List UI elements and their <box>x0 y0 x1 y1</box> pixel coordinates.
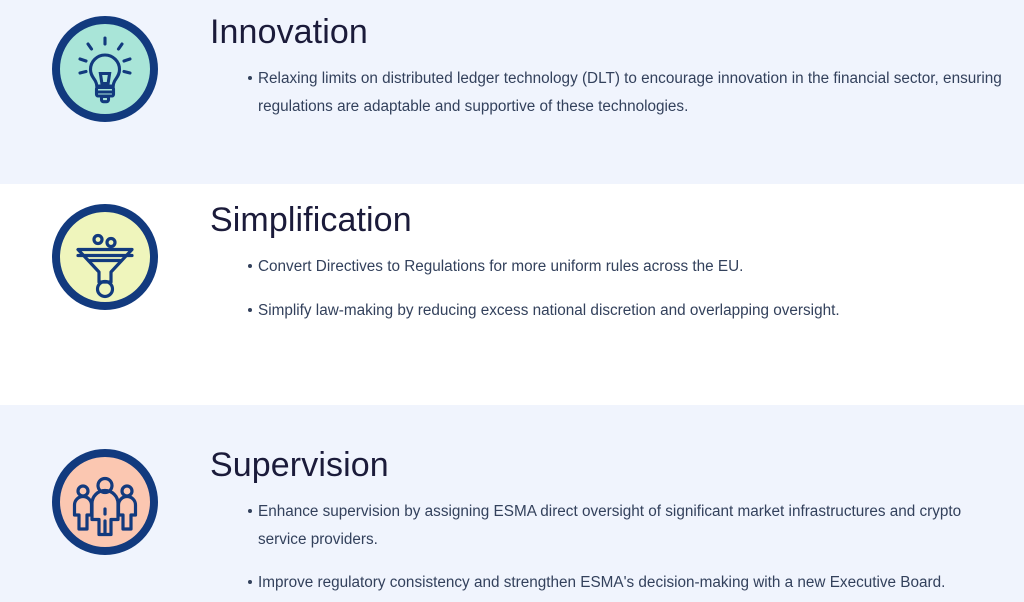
bullet-item: Improve regulatory consistency and stren… <box>210 569 1002 597</box>
section-heading: Innovation <box>210 14 1002 51</box>
bullet-item: Convert Directives to Regulations for mo… <box>210 253 1002 281</box>
bullet-list-supervision: Enhance supervision by assigning ESMA di… <box>210 498 1002 597</box>
content-column-innovation: Innovation Relaxing limits on distribute… <box>210 14 1024 120</box>
section-innovation: Innovation Relaxing limits on distribute… <box>0 0 1024 184</box>
bullet-item: Enhance supervision by assigning ESMA di… <box>210 498 1002 554</box>
icon-column-simplification <box>0 202 210 312</box>
content-column-simplification: Simplification Convert Directives to Reg… <box>210 202 1024 324</box>
lightbulb-icon <box>50 14 160 124</box>
bullet-item: Simplify law-making by reducing excess n… <box>210 297 1002 325</box>
section-supervision: Supervision Enhance supervision by assig… <box>0 405 1024 602</box>
section-simplification: Simplification Convert Directives to Reg… <box>0 184 1024 405</box>
funnel-icon <box>50 202 160 312</box>
icon-column-supervision <box>0 447 210 557</box>
people-group-icon <box>50 447 160 557</box>
icon-column-innovation <box>0 14 210 124</box>
section-heading: Supervision <box>210 447 1002 484</box>
content-column-supervision: Supervision Enhance supervision by assig… <box>210 447 1024 597</box>
section-heading: Simplification <box>210 202 1002 239</box>
bullet-item: Relaxing limits on distributed ledger te… <box>210 65 1002 121</box>
reform-pillars-page: Innovation Relaxing limits on distribute… <box>0 0 1024 602</box>
bullet-list-innovation: Relaxing limits on distributed ledger te… <box>210 65 1002 121</box>
bullet-list-simplification: Convert Directives to Regulations for mo… <box>210 253 1002 325</box>
